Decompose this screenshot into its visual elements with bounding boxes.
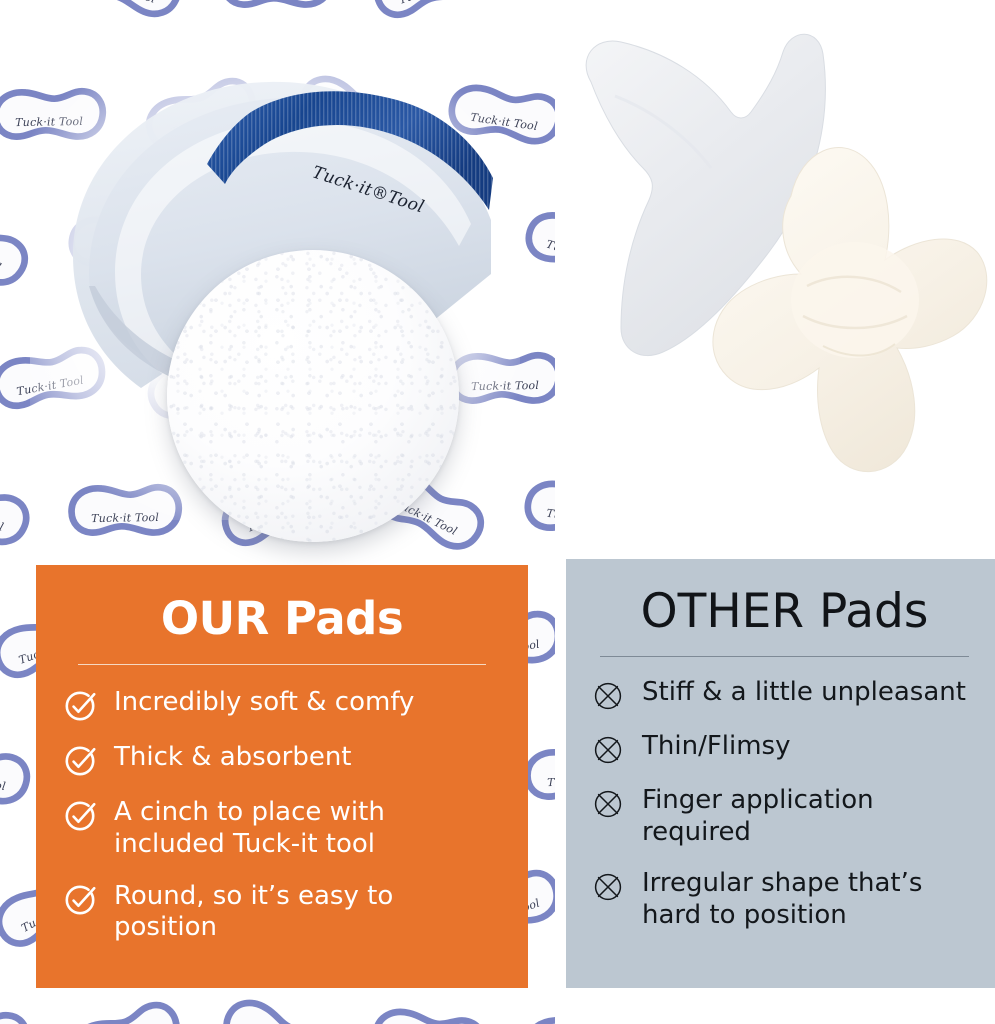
other-pads-feature-list: Stiff & a little unpleasant Thin/Flimsy <box>592 677 977 931</box>
brand-pattern-tile: Tuck·it Tool <box>0 461 43 561</box>
feature-label: Round, so it’s easy to position <box>114 881 500 944</box>
bean-shape-icon <box>55 987 196 1024</box>
brand-pattern-tile: Tuck·it Tool <box>0 734 40 817</box>
check-circle-icon <box>64 690 96 722</box>
brand-pattern-tile: Tuck·it Tool <box>513 996 555 1024</box>
bean-shape-icon <box>0 190 44 305</box>
bean-label: Tuck·it Tool <box>547 775 555 789</box>
x-circle-icon <box>592 788 624 820</box>
bean-shape-icon <box>510 0 555 40</box>
list-item: Irregular shape that’s hard to position <box>592 868 977 931</box>
list-item: Stiff & a little unpleasant <box>592 677 977 712</box>
feature-label: Stiff & a little unpleasant <box>642 677 966 709</box>
list-item: Thick & absorbent <box>64 742 500 777</box>
brand-pattern-tile: Tuck·it Tool <box>206 982 348 1024</box>
check-circle-icon <box>64 884 96 916</box>
brand-pattern-tile: Tuck·it Tool <box>55 987 196 1024</box>
other-pads-divider <box>600 656 969 657</box>
round-pad <box>167 250 459 542</box>
brand-pattern-tile: Tuck·it Tool <box>0 1005 37 1024</box>
brand-pattern-tile: Tuck·it Tool <box>359 0 500 35</box>
feature-label: A cinch to place with included Tuck-it t… <box>114 797 500 860</box>
our-pads-divider <box>78 664 486 665</box>
feature-label: Incredibly soft & comfy <box>114 687 414 719</box>
bean-shape-icon <box>0 1005 37 1024</box>
bean-shape-icon <box>0 461 43 561</box>
list-item: A cinch to place with included Tuck-it t… <box>64 797 500 860</box>
bean-shape-icon <box>213 0 340 17</box>
brand-pattern-tile: Tuck·it Tool <box>511 197 555 297</box>
bean-shape-icon <box>0 0 44 42</box>
feature-label: Thick & absorbent <box>114 742 352 774</box>
other-pads-title: OTHER Pads <box>592 571 977 636</box>
brand-pattern-tile: Tuck·it Tool <box>55 0 195 33</box>
list-item: Thin/Flimsy <box>592 731 977 766</box>
brand-pattern-tile: Tuck·it Tool <box>0 190 44 305</box>
our-pads-feature-list: Incredibly soft & comfy Thick & absorben… <box>64 687 500 944</box>
brand-pattern-tile: Tuck·it Tool <box>510 0 555 40</box>
bean-shape-icon <box>0 734 40 817</box>
list-item: Finger application required <box>592 785 977 848</box>
infographic-canvas: Tuck·it ToolTuck·it ToolTuck·it ToolTuck… <box>0 0 995 1024</box>
feature-label: Irregular shape that’s hard to position <box>642 868 977 931</box>
other-pads-photo <box>555 0 995 555</box>
bean-shape-icon <box>359 0 500 35</box>
brand-pattern-tile: Tuck·it Tool <box>514 470 555 553</box>
check-circle-icon <box>64 745 96 777</box>
product-group: Tuck·it®Tool <box>55 60 505 520</box>
bean-shape-icon <box>513 996 555 1024</box>
other-pads-panel: OTHER Pads Stiff & a little unpleasant <box>566 559 995 988</box>
brand-pattern-tile: Tuck·it Tool <box>213 0 340 17</box>
feature-label: Finger application required <box>642 785 977 848</box>
our-pads-title: OUR Pads <box>64 581 500 642</box>
x-circle-icon <box>592 680 624 712</box>
check-circle-icon <box>64 800 96 832</box>
brand-pattern-tile: Tuck·it Tool <box>0 0 44 42</box>
bean-shape-icon <box>206 982 348 1024</box>
bean-shape-icon <box>362 998 496 1024</box>
bean-shape-icon <box>55 0 195 33</box>
list-item: Incredibly soft & comfy <box>64 687 500 722</box>
feature-label: Thin/Flimsy <box>642 731 790 763</box>
list-item: Round, so it’s easy to position <box>64 881 500 944</box>
x-circle-icon <box>592 871 624 903</box>
x-circle-icon <box>592 734 624 766</box>
our-pads-panel: OUR Pads Incredibly soft & comfy <box>36 565 528 988</box>
competitor-pads-illustration <box>555 0 995 555</box>
brand-pattern-tile: Tuck·it Tool <box>362 998 496 1024</box>
